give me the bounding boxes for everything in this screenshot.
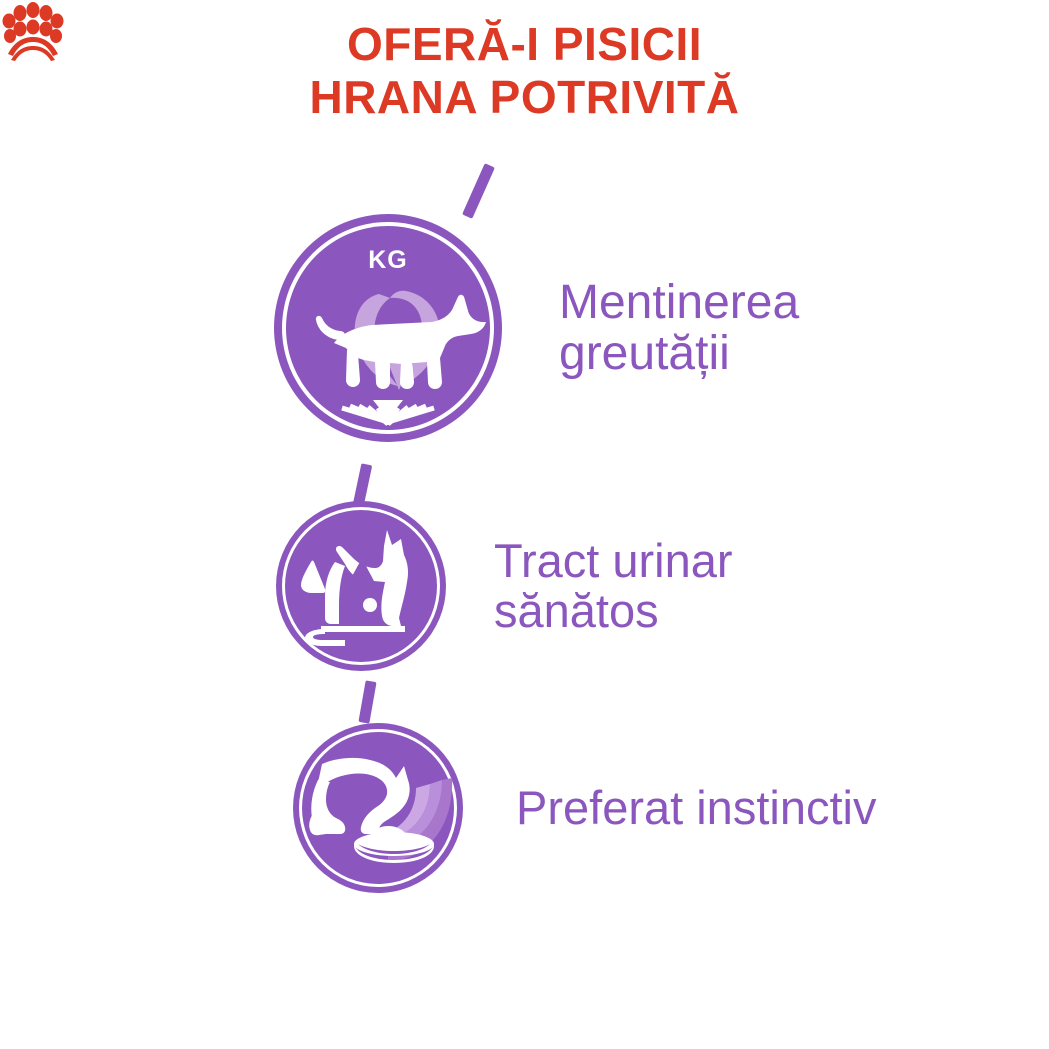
feature-row: Tract urinar sănătos — [275, 500, 733, 672]
weight-maintenance-icon: KG — [272, 212, 504, 444]
title-line-1: OFERĂ-I PISICII — [0, 18, 1049, 71]
dashed-connector-2-3 — [358, 680, 376, 723]
urinary-tract-icon — [275, 500, 447, 672]
instinctive-preference-icon — [292, 722, 464, 894]
dashed-connector-top — [462, 163, 495, 219]
feature-row: Preferat instinctiv — [292, 722, 876, 894]
feature-row: KG — [272, 212, 799, 444]
feature-label: Preferat instinctiv — [516, 783, 876, 833]
kg-label: KG — [368, 246, 408, 274]
feature-label: Tract urinar sănătos — [494, 536, 733, 636]
infographic-canvas: OFERĂ-I PISICII HRANA POTRIVITĂ KG — [0, 0, 1049, 1049]
feature-label: Mentinerea greutății — [559, 278, 799, 380]
title-line-2: HRANA POTRIVITĂ — [0, 71, 1049, 124]
page-title: OFERĂ-I PISICII HRANA POTRIVITĂ — [0, 18, 1049, 124]
